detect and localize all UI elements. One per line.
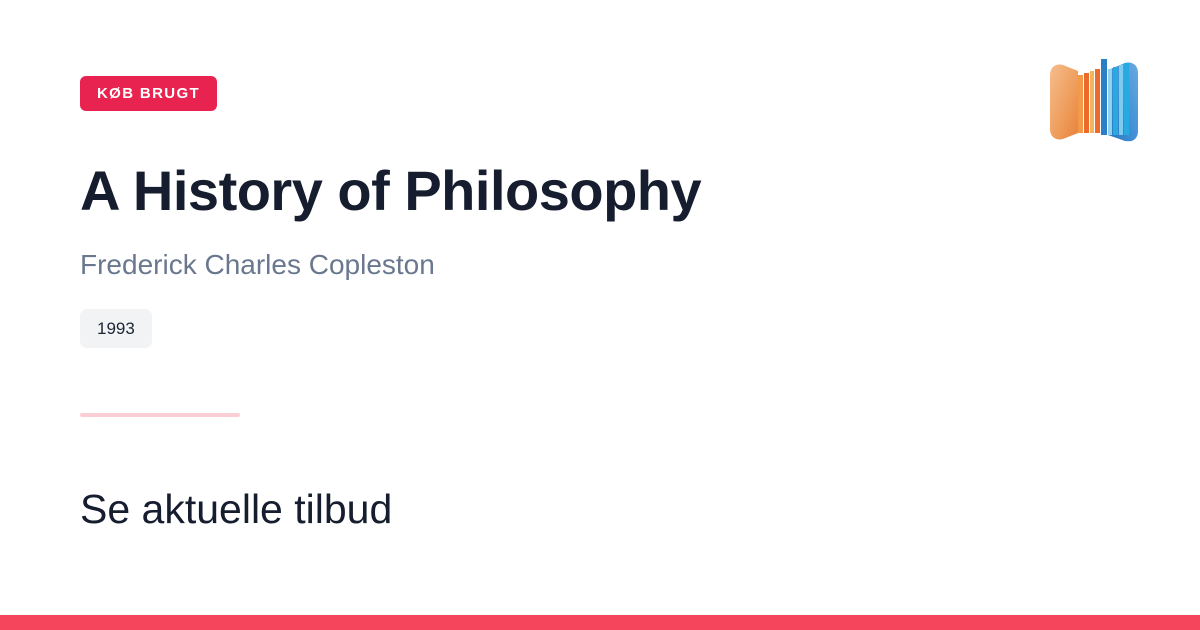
logo-mark <box>1050 59 1138 142</box>
page-title: A History of Philosophy <box>80 160 701 223</box>
book-author: Frederick Charles Copleston <box>80 248 435 282</box>
publication-year-chip: 1993 <box>80 309 152 348</box>
divider <box>80 413 240 417</box>
cta-text[interactable]: Se aktuelle tilbud <box>80 485 392 534</box>
site-logo[interactable] <box>1040 45 1148 160</box>
bottom-accent-bar <box>0 615 1200 630</box>
status-badge: KØB BRUGT <box>80 76 217 111</box>
share-card: KØB BRUGT A History of Philosophy Freder… <box>0 0 1200 630</box>
